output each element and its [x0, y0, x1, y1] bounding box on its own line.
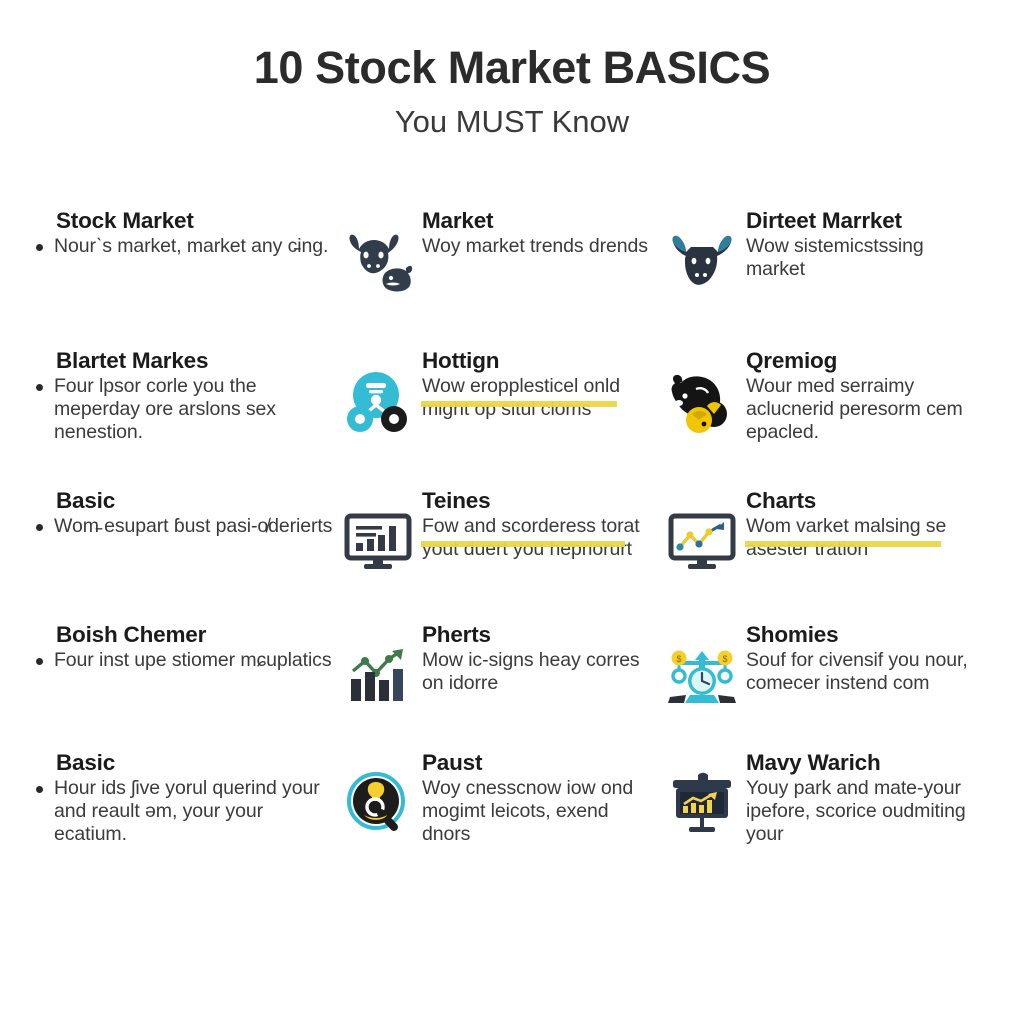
- item-body: Woy cnesscnow iow ond mogimt leicots, ex…: [422, 777, 658, 846]
- bullet-icon: [36, 384, 43, 391]
- svg-text:$: $: [722, 654, 727, 664]
- item-body-text: Wow eropplesticel onld might op situl cl…: [422, 375, 620, 420]
- bullet-icon: [36, 244, 43, 251]
- item-title: Mavy Warich: [746, 750, 986, 775]
- list-item: Teines Fow and scorderess torat yout due…: [342, 488, 666, 622]
- basics-grid: Stock Market Nourˋs market, market any c…: [34, 208, 994, 880]
- item-body: Four inst upe stiomer mɕuplatics: [54, 649, 331, 672]
- bull-head-icon: [666, 226, 738, 298]
- bullet-icon: [36, 524, 43, 531]
- item-body-text: Wom varket malsing se asester tration: [746, 515, 946, 560]
- highlight-marker: [745, 541, 941, 547]
- list-item: Basic Wom̵ esupart ɓust pasi-o̸derierts: [34, 488, 342, 622]
- item-body: Wom̵ esupart ɓust pasi-o̸derierts: [54, 515, 332, 538]
- bullet-icon: [36, 658, 43, 665]
- bullet-icon: [36, 786, 43, 793]
- item-body: Four lpsor corle you the meperday ore ar…: [54, 375, 334, 444]
- item-body: Youy park and mate-your ipefore, scorice…: [746, 777, 986, 846]
- list-item: Dirteet Marrket Wow sistemicstssing mark…: [666, 208, 994, 348]
- magnifier-circle-icon: [342, 768, 414, 840]
- item-body: Wow eropplesticel onld might op situl cl…: [422, 375, 658, 421]
- item-title: Qremiog: [746, 348, 986, 373]
- item-title: Shomies: [746, 622, 986, 647]
- item-body: Wom varket malsing se asester tration: [746, 515, 986, 561]
- svg-text:$: $: [676, 654, 681, 664]
- list-item: Market Woy market trends drends: [342, 208, 666, 348]
- list-item: Paust Woy cnesscnow iow ond mogimt leico…: [342, 750, 666, 880]
- highlight-marker: [421, 541, 625, 547]
- item-title: Teines: [422, 488, 658, 513]
- bear-coin-icon: [666, 366, 738, 438]
- item-body: Nourˋs market, market any c̵ing.: [54, 235, 328, 258]
- list-item: Stock Market Nourˋs market, market any c…: [34, 208, 342, 348]
- item-body: Fow and scorderess torat yout duert you …: [422, 515, 658, 561]
- item-body-text: Fow and scorderess torat yout duert you …: [422, 515, 640, 560]
- list-item: Charts Wom varket malsing se asester tra…: [666, 488, 994, 622]
- list-item: $ $ Shomies Souf for civensif you nour, …: [666, 622, 994, 750]
- item-body: Hour ids ʃive yorul querind your and rea…: [54, 777, 334, 846]
- item-title: Basic: [56, 488, 334, 513]
- presentation-chart-icon: [666, 768, 738, 840]
- item-title: Stock Market: [56, 208, 334, 233]
- item-title: Market: [422, 208, 658, 233]
- balance-scale-icon: $ $: [666, 640, 738, 712]
- item-body: Mow ic-signs heay corres on idorre: [422, 649, 658, 695]
- list-item: Qremiog Wour med serraimy aclucnerid per…: [666, 348, 994, 488]
- page-title: 10 Stock Market BASICS: [0, 44, 1024, 92]
- monitor-line-chart-icon: [666, 506, 738, 578]
- highlight-marker: [421, 401, 617, 407]
- list-item: Mavy Warich Youy park and mate-your ipef…: [666, 750, 994, 880]
- item-body: Wow sistemicstssing market: [746, 235, 986, 281]
- bar-chart-uptrend-icon: [342, 640, 414, 712]
- item-body: Wour med serraimy aclucnerid peresorm ce…: [746, 375, 986, 444]
- list-item: Hottign Wow eropplesticel onld might op …: [342, 348, 666, 488]
- bull-and-bear-icon: [342, 226, 414, 298]
- infographic-header: 10 Stock Market BASICS You MUST Know: [0, 0, 1024, 138]
- list-item: Pherts Mow ic-signs heay corres on idorr…: [342, 622, 666, 750]
- list-item: Boish Chemer Four inst upe stiomer mɕupl…: [34, 622, 342, 750]
- item-title: Blartet Markes: [56, 348, 334, 373]
- item-title: Dirteet Marrket: [746, 208, 986, 233]
- item-title: Pherts: [422, 622, 658, 647]
- list-item: Basic Hour ids ʃive yorul querind your a…: [34, 750, 342, 880]
- item-body: Woy market trends drends: [422, 235, 658, 258]
- page-subtitle: You MUST Know: [0, 106, 1024, 139]
- monitor-bar-chart-icon: [342, 506, 414, 578]
- network-nodes-icon: [342, 366, 414, 438]
- item-title: Hottign: [422, 348, 658, 373]
- item-body: Souf for civensif you nour, comecer inst…: [746, 649, 986, 695]
- list-item: Blartet Markes Four lpsor corle you the …: [34, 348, 342, 488]
- item-title: Paust: [422, 750, 658, 775]
- item-title: Basic: [56, 750, 334, 775]
- item-title: Charts: [746, 488, 986, 513]
- item-title: Boish Chemer: [56, 622, 334, 647]
